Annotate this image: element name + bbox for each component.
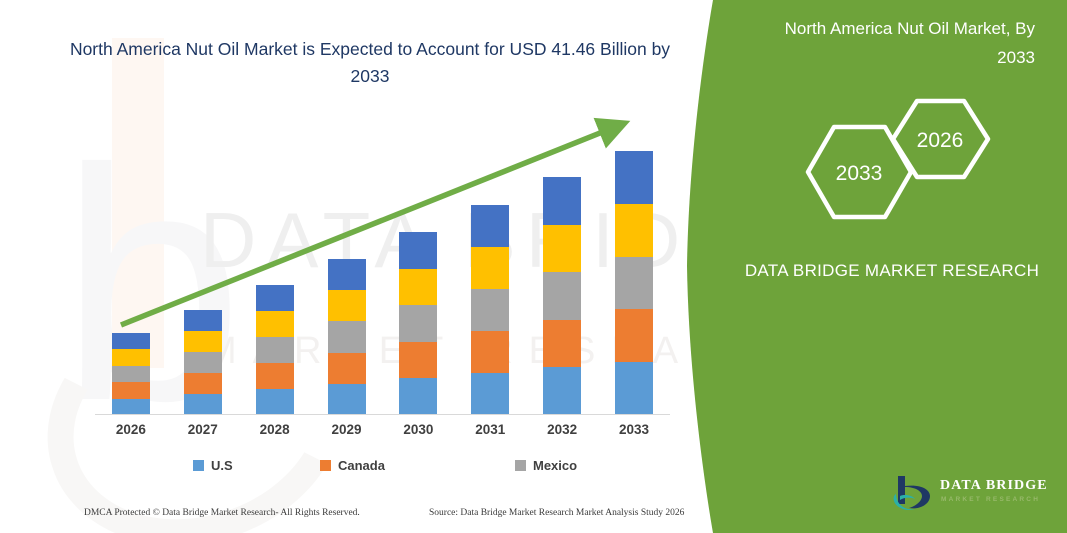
chart-pane: b DATA BRIDGE MARKET RESEARCH North Amer… xyxy=(0,0,760,533)
side-panel-brand: DATA BRIDGE MARKET RESEARCH xyxy=(742,255,1042,286)
side-panel-title: North America Nut Oil Market, By 2033 xyxy=(775,14,1035,72)
legend-label: U.S xyxy=(211,458,233,473)
bar-segment xyxy=(112,349,150,365)
bar-segment xyxy=(256,337,294,363)
x-axis-label: 2030 xyxy=(382,422,454,437)
bar-segment xyxy=(543,367,581,415)
legend-label: Canada xyxy=(338,458,385,473)
bar-segment xyxy=(184,352,222,373)
logo-b-icon xyxy=(892,474,934,514)
x-axis-label: 2032 xyxy=(526,422,598,437)
bar-segment xyxy=(328,353,366,384)
infographic-root: b DATA BRIDGE MARKET RESEARCH North Amer… xyxy=(0,0,1067,533)
x-axis-labels: 20262027202820292030203120322033 xyxy=(95,422,670,446)
x-axis-line xyxy=(95,414,670,415)
footer: DMCA Protected © Data Bridge Market Rese… xyxy=(84,508,684,524)
logo-text: DATA BRIDGE xyxy=(940,478,1048,494)
bar-segment xyxy=(471,373,509,415)
legend-swatch-icon xyxy=(515,460,526,471)
footer-source: Source: Data Bridge Market Research Mark… xyxy=(429,508,684,518)
x-axis-label: 2031 xyxy=(454,422,526,437)
bar-segment xyxy=(112,399,150,415)
chart-title: North America Nut Oil Market is Expected… xyxy=(60,36,680,90)
bar-segment xyxy=(399,342,437,379)
side-panel: North America Nut Oil Market, By 2033 20… xyxy=(677,0,1067,533)
logo-subtext: MARKET RESEARCH xyxy=(941,496,1040,503)
legend-item[interactable]: Canada xyxy=(320,458,385,473)
trend-arrow-icon xyxy=(95,105,670,340)
hexagon-2033-label: 2033 xyxy=(836,162,883,185)
bar-segment xyxy=(615,362,653,415)
legend-swatch-icon xyxy=(320,460,331,471)
x-axis-label: 2027 xyxy=(167,422,239,437)
bar-segment xyxy=(399,378,437,415)
bar-segment xyxy=(112,366,150,382)
hexagon-badges: 2026 2033 xyxy=(792,95,1022,225)
stacked-bar xyxy=(112,333,150,415)
legend-label: Mexico xyxy=(533,458,577,473)
hexagon-2026-label: 2026 xyxy=(917,129,964,152)
x-axis-label: 2026 xyxy=(95,422,167,437)
bar-segment xyxy=(256,363,294,389)
bar-segment xyxy=(256,389,294,415)
bar-segment xyxy=(328,384,366,415)
legend-item[interactable]: U.S xyxy=(193,458,233,473)
x-axis-label: 2028 xyxy=(239,422,311,437)
bar-segment xyxy=(184,373,222,394)
chart-legend: U.SCanadaMexico xyxy=(95,458,670,480)
x-axis-label: 2033 xyxy=(598,422,670,437)
bar-segment xyxy=(184,394,222,415)
bar-segment xyxy=(112,382,150,398)
legend-swatch-icon xyxy=(193,460,204,471)
legend-item[interactable]: Mexico xyxy=(515,458,577,473)
data-bridge-logo: DATA BRIDGE MARKET RESEARCH xyxy=(892,472,1057,518)
footer-copyright: DMCA Protected © Data Bridge Market Rese… xyxy=(84,508,360,518)
x-axis-label: 2029 xyxy=(311,422,383,437)
